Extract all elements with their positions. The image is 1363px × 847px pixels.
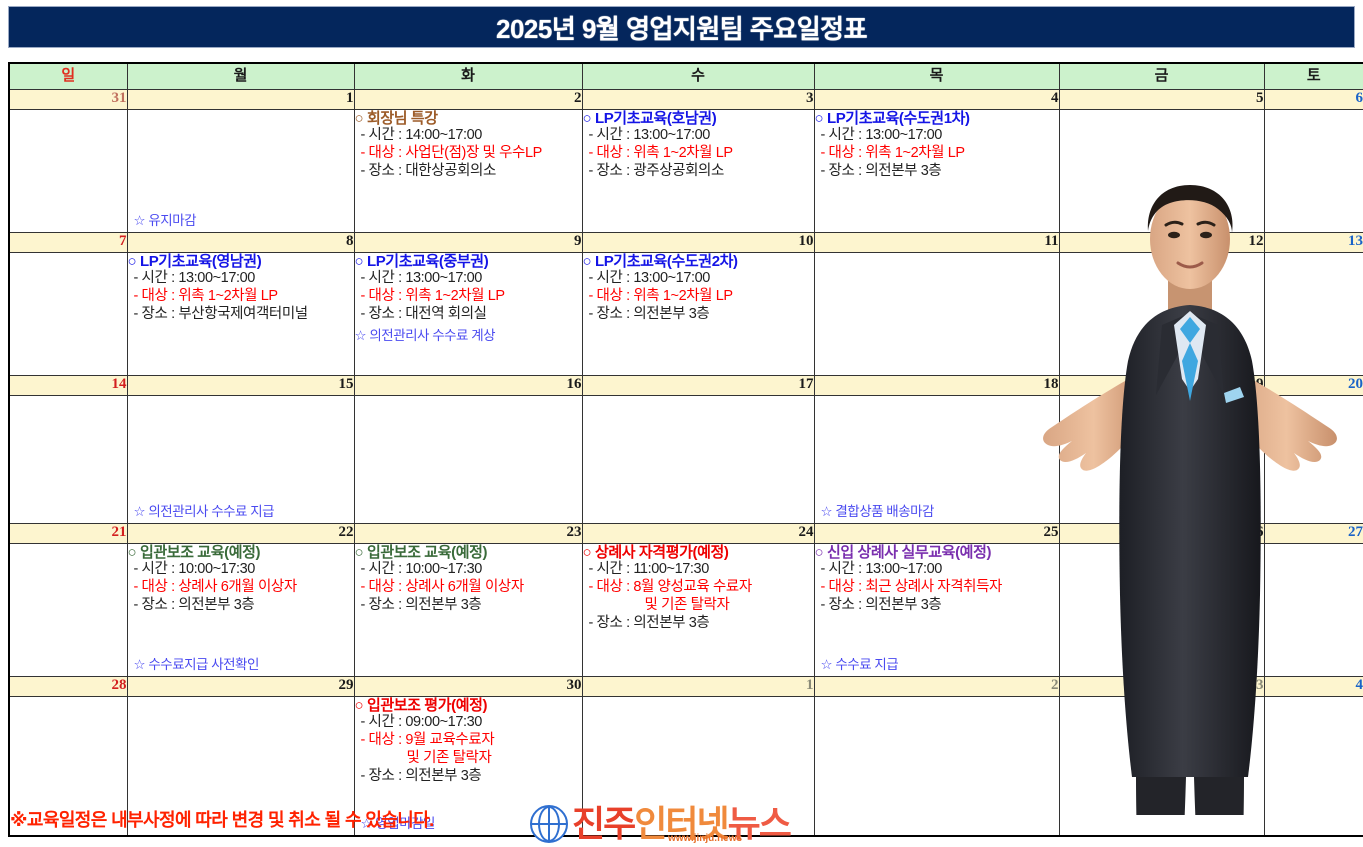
calendar-grid: 일 월 화 수 목 금 토 31123456☆ 유지마감○ 회장님 특강- 시간… [8, 62, 1363, 837]
event-detail-line: - 대상 : 상례사 6개월 이상자 [128, 579, 354, 597]
event-title-text: 상례사 자격평가(예정) [595, 544, 729, 561]
circle-marker-icon: ○ [583, 544, 595, 561]
footer-note: ※교육일정은 내부사정에 따라 변경 및 취소 될 수 있습니다. [10, 806, 434, 832]
event-detail-line: - 시간 : 11:00~17:30 [583, 561, 814, 579]
date-number[interactable]: 17 [582, 375, 814, 395]
event-title-text: LP기초교육(수도권1차) [827, 110, 970, 127]
event-detail-line: - 시간 : 13:00~17:00 [355, 270, 582, 288]
date-number-row: 2829301234 [9, 676, 1363, 696]
event-title: ○ 상례사 자격평가(예정) [583, 544, 814, 561]
day-cell[interactable] [1059, 543, 1264, 676]
day-cell[interactable]: ○ 입관보조 교육(예정)- 시간 : 10:00~17:30- 대상 : 상례… [127, 543, 354, 676]
date-number[interactable]: 29 [127, 676, 354, 696]
date-number[interactable]: 2 [814, 676, 1059, 696]
star-note: ☆ 수수료 지급 [821, 653, 899, 673]
event-title-text: 신입 상례사 실무교육(예정) [827, 544, 991, 561]
date-number[interactable]: 8 [127, 232, 354, 252]
event-detail-line: - 대상 : 최근 상례사 자격취득자 [815, 579, 1059, 597]
event-detail-line: 및 기존 탈락자 [355, 750, 582, 768]
weekday-header-fri: 금 [1059, 63, 1264, 89]
date-number[interactable]: 2 [354, 89, 582, 109]
day-cell[interactable] [9, 252, 127, 375]
event-title-text: 입관보조 평가(예정) [367, 697, 487, 714]
week-body-row: ○ LP기초교육(영남권)- 시간 : 13:00~17:00- 대상 : 위촉… [9, 252, 1363, 375]
day-cell[interactable] [354, 395, 582, 523]
event-title-text: LP기초교육(호남권) [595, 110, 716, 127]
event-detail-line: - 대상 : 위촉 1~2차월 LP [583, 145, 814, 163]
date-number[interactable]: 12 [1059, 232, 1264, 252]
weekday-header-tue: 화 [354, 63, 582, 89]
weekday-header-sat: 토 [1264, 63, 1363, 89]
date-number[interactable]: 28 [9, 676, 127, 696]
day-cell[interactable]: ○ 상례사 자격평가(예정)- 시간 : 11:00~17:30- 대상 : 8… [582, 543, 814, 676]
event-title-text: LP기초교육(영남권) [140, 253, 261, 270]
weekday-header-mon: 월 [127, 63, 354, 89]
event-title: ○ LP기초교육(영남권) [128, 253, 354, 270]
circle-marker-icon: ○ [128, 253, 140, 270]
event-detail-line: - 시간 : 09:00~17:30 [355, 714, 582, 732]
event-detail-line: - 대상 : 위촉 1~2차월 LP [815, 145, 1059, 163]
event-title: ○ 입관보조 교육(예정) [128, 544, 354, 561]
day-cell[interactable] [1059, 696, 1264, 836]
logo-url: www.jinju.news [668, 833, 742, 844]
day-cell[interactable] [814, 252, 1059, 375]
logo-wordmark: 진주 인터넷 뉴스 www.jinju.news [572, 806, 790, 842]
calendar-header: 일 월 화 수 목 금 토 [9, 63, 1363, 89]
event-detail-line: - 장소 : 의전본부 3층 [128, 597, 354, 615]
date-number[interactable]: 1 [582, 676, 814, 696]
event-title-text: LP기초교육(중부권) [367, 253, 488, 270]
date-number[interactable]: 23 [354, 523, 582, 543]
day-cell[interactable] [9, 543, 127, 676]
circle-marker-icon: ○ [815, 110, 827, 127]
event-detail-line: - 장소 : 의전본부 3층 [583, 306, 814, 324]
event-title: ○ LP기초교육(수도권2차) [583, 253, 814, 270]
event-detail-line: - 대상 : 상례사 6개월 이상자 [355, 579, 582, 597]
date-number[interactable]: 9 [354, 232, 582, 252]
circle-marker-icon: ○ [583, 253, 595, 270]
date-number[interactable]: 25 [814, 523, 1059, 543]
event-detail-line: - 장소 : 광주상공회의소 [583, 163, 814, 181]
event-title-text: 입관보조 교육(예정) [367, 544, 487, 561]
event-detail-line: - 장소 : 대전역 회의실 [355, 306, 582, 324]
date-number[interactable]: 4 [814, 89, 1059, 109]
date-number[interactable]: 14 [9, 375, 127, 395]
star-note: ☆ 의전관리사 수수료 지급 [134, 500, 275, 520]
globe-icon [530, 805, 568, 843]
event-title: ○ 입관보조 교육(예정) [355, 544, 582, 561]
day-cell[interactable]: ☆ 유지마감 [127, 109, 354, 232]
circle-marker-icon: ○ [355, 253, 367, 270]
date-number[interactable]: 10 [582, 232, 814, 252]
event-title-text: 입관보조 교육(예정) [140, 544, 260, 561]
circle-marker-icon: ○ [355, 544, 367, 561]
day-cell[interactable]: ○ LP기초교육(호남권)- 시간 : 13:00~17:00- 대상 : 위촉… [582, 109, 814, 232]
day-cell[interactable] [1059, 395, 1264, 523]
event-title: ○ 회장님 특강 [355, 110, 582, 127]
date-number[interactable]: 3 [582, 89, 814, 109]
star-note: ☆ 유지마감 [134, 209, 197, 229]
event-detail-line: - 장소 : 부산항국제여객터미널 [128, 306, 354, 324]
circle-marker-icon: ○ [355, 110, 367, 127]
star-note: ☆ 의전관리사 수수료 계상 [355, 324, 582, 344]
date-number[interactable]: 7 [9, 232, 127, 252]
day-cell[interactable] [1264, 696, 1363, 836]
date-number[interactable]: 3 [1059, 676, 1264, 696]
circle-marker-icon: ○ [815, 544, 827, 561]
weekday-header-wed: 수 [582, 63, 814, 89]
date-number-row: 21222324252627 [9, 523, 1363, 543]
page-title-banner: 2025년 9월 영업지원팀 주요일정표 [8, 6, 1355, 48]
event-title: ○ LP기초교육(중부권) [355, 253, 582, 270]
event-detail-line: - 장소 : 대한상공회의소 [355, 163, 582, 181]
calendar-body: 31123456☆ 유지마감○ 회장님 특강- 시간 : 14:00~17:00… [9, 89, 1363, 836]
date-number[interactable]: 16 [354, 375, 582, 395]
event-title: ○ LP기초교육(수도권1차) [815, 110, 1059, 127]
event-detail-line: - 장소 : 의전본부 3층 [815, 163, 1059, 181]
event-detail-line: - 장소 : 의전본부 3층 [355, 597, 582, 615]
day-cell[interactable] [582, 395, 814, 523]
day-cell[interactable] [814, 696, 1059, 836]
date-number[interactable]: 4 [1264, 676, 1363, 696]
event-detail-line: - 시간 : 13:00~17:00 [583, 270, 814, 288]
circle-marker-icon: ○ [583, 110, 595, 127]
date-number[interactable]: 6 [1264, 89, 1363, 109]
date-number[interactable]: 21 [9, 523, 127, 543]
day-cell[interactable] [1059, 109, 1264, 232]
date-number-row: 14151617181920 [9, 375, 1363, 395]
event-detail-line: - 대상 : 위촉 1~2차월 LP [583, 288, 814, 306]
day-cell[interactable] [9, 109, 127, 232]
weekday-header-row: 일 월 화 수 목 금 토 [9, 63, 1363, 89]
circle-marker-icon: ○ [355, 697, 367, 714]
event-title: ○ 입관보조 평가(예정) [355, 697, 582, 714]
week-body-row: ☆ 의전관리사 수수료 지급☆ 결합상품 배송마감 [9, 395, 1363, 523]
site-logo[interactable]: 진주 인터넷 뉴스 www.jinju.news [530, 803, 790, 845]
event-detail-line: - 시간 : 13:00~17:00 [815, 127, 1059, 145]
date-number[interactable]: 15 [127, 375, 354, 395]
event-detail-line: - 시간 : 14:00~17:00 [355, 127, 582, 145]
date-number[interactable]: 20 [1264, 375, 1363, 395]
event-detail-line: - 대상 : 8월 양성교육 수료자 [583, 579, 814, 597]
logo-part-1: 진주 [572, 806, 634, 842]
day-cell[interactable]: ☆ 결합상품 배송마감 [814, 395, 1059, 523]
event-title: ○ 신입 상례사 실무교육(예정) [815, 544, 1059, 561]
date-number[interactable]: 18 [814, 375, 1059, 395]
week-body-row: ○ 입관보조 교육(예정)- 시간 : 10:00~17:30- 대상 : 상례… [9, 543, 1363, 676]
event-detail-line: - 장소 : 의전본부 3층 [583, 615, 814, 633]
event-title-text: LP기초교육(수도권2차) [595, 253, 738, 270]
event-detail-line: - 장소 : 의전본부 3층 [815, 597, 1059, 615]
day-cell[interactable]: ○ LP기초교육(중부권)- 시간 : 13:00~17:00- 대상 : 위촉… [354, 252, 582, 375]
event-detail-line: - 시간 : 10:00~17:30 [128, 561, 354, 579]
day-cell[interactable]: ○ LP기초교육(수도권2차)- 시간 : 13:00~17:00- 대상 : … [582, 252, 814, 375]
event-detail-line: - 대상 : 위촉 1~2차월 LP [355, 288, 582, 306]
day-cell[interactable]: ○ 입관보조 교육(예정)- 시간 : 10:00~17:30- 대상 : 상례… [354, 543, 582, 676]
event-detail-line: - 장소 : 의전본부 3층 [355, 768, 582, 786]
date-number[interactable]: 13 [1264, 232, 1363, 252]
event-detail-line: - 시간 : 13:00~17:00 [583, 127, 814, 145]
day-cell[interactable] [1264, 543, 1363, 676]
date-number[interactable]: 26 [1059, 523, 1264, 543]
star-note: ☆ 수수료지급 사전확인 [134, 653, 259, 673]
date-number[interactable]: 24 [582, 523, 814, 543]
event-title-text: 회장님 특강 [367, 110, 438, 127]
event-detail-line: - 대상 : 위촉 1~2차월 LP [128, 288, 354, 306]
circle-marker-icon: ○ [128, 544, 140, 561]
date-number[interactable]: 22 [127, 523, 354, 543]
day-cell[interactable] [1264, 252, 1363, 375]
date-number[interactable]: 31 [9, 89, 127, 109]
day-cell[interactable] [1264, 109, 1363, 232]
page-title: 2025년 9월 영업지원팀 주요일정표 [496, 9, 867, 46]
date-number[interactable]: 30 [354, 676, 582, 696]
weekday-header-thu: 목 [814, 63, 1059, 89]
date-number[interactable]: 1 [127, 89, 354, 109]
date-number-row: 78910111213 [9, 232, 1363, 252]
date-number-row: 31123456 [9, 89, 1363, 109]
event-detail-line: - 대상 : 사업단(점)장 및 우수LP [355, 145, 582, 163]
date-number[interactable]: 27 [1264, 523, 1363, 543]
event-detail-line: 및 기존 탈락자 [583, 597, 814, 615]
date-number[interactable]: 19 [1059, 375, 1264, 395]
date-number[interactable]: 11 [814, 232, 1059, 252]
weekday-header-sun: 일 [9, 63, 127, 89]
event-detail-line: - 시간 : 13:00~17:00 [128, 270, 354, 288]
event-detail-line: - 시간 : 10:00~17:30 [355, 561, 582, 579]
event-title: ○ LP기초교육(호남권) [583, 110, 814, 127]
day-cell[interactable] [9, 395, 127, 523]
day-cell[interactable]: ○ LP기초교육(수도권1차)- 시간 : 13:00~17:00- 대상 : … [814, 109, 1059, 232]
event-detail-line: - 시간 : 13:00~17:00 [815, 561, 1059, 579]
day-cell[interactable]: ○ LP기초교육(영남권)- 시간 : 13:00~17:00- 대상 : 위촉… [127, 252, 354, 375]
week-body-row: ☆ 유지마감○ 회장님 특강- 시간 : 14:00~17:00- 대상 : 사… [9, 109, 1363, 232]
day-cell[interactable]: ○ 신입 상례사 실무교육(예정)- 시간 : 13:00~17:00- 대상 … [814, 543, 1059, 676]
day-cell[interactable]: ☆ 의전관리사 수수료 지급 [127, 395, 354, 523]
day-cell[interactable] [1059, 252, 1264, 375]
day-cell[interactable]: ○ 회장님 특강- 시간 : 14:00~17:00- 대상 : 사업단(점)장… [354, 109, 582, 232]
event-detail-line: - 대상 : 9월 교육수료자 [355, 732, 582, 750]
day-cell[interactable] [1264, 395, 1363, 523]
date-number[interactable]: 5 [1059, 89, 1264, 109]
star-note: ☆ 결합상품 배송마감 [821, 500, 934, 520]
